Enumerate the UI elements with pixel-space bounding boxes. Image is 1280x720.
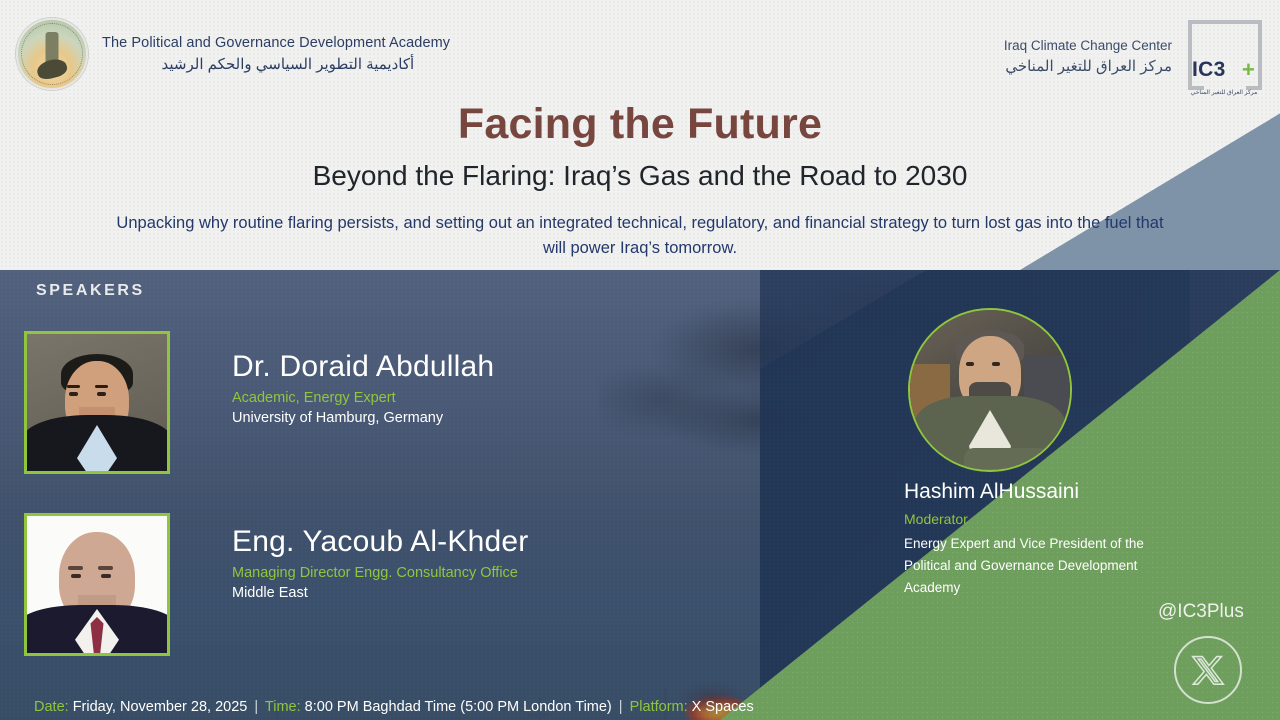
speaker-2-info: Eng. Yacoub Al-Khder Managing Director E…: [232, 525, 852, 601]
footer-details: Date: Friday, November 28, 2025 | Time: …: [34, 699, 754, 715]
date-value: Friday, November 28, 2025: [73, 699, 248, 715]
moderator-description: Energy Expert and Vice President of the …: [904, 533, 1154, 599]
ic3-logo-group: Iraq Climate Change Center مركز العراق ل…: [1004, 16, 1266, 98]
ic3-name-ar: مركز العراق للتغير المناخي: [1004, 56, 1172, 78]
ic3-name-block: Iraq Climate Change Center مركز العراق ل…: [1004, 36, 1172, 77]
speaker-1-role: Academic, Energy Expert: [232, 390, 852, 406]
poster-description: Unpacking why routine flaring persists, …: [110, 211, 1170, 261]
moderator-name: Hashim AlHussaini: [904, 480, 1154, 504]
speaker-2-affiliation: Middle East: [232, 585, 852, 601]
academy-name-ar: أكاديمية التطوير السياسي والحكم الرشيد: [102, 54, 450, 76]
speaker-1-name: Dr. Doraid Abdullah: [232, 350, 852, 384]
poster-title: Facing the Future: [0, 100, 1280, 149]
moderator-photo: [908, 308, 1072, 472]
ic3-mark-plus: +: [1242, 59, 1255, 81]
speakers-section-label: SPEAKERS: [36, 282, 145, 300]
academy-logo-group: The Political and Governance Development…: [16, 18, 450, 90]
footer-separator-2: |: [616, 699, 626, 715]
platform-value: X Spaces: [692, 699, 754, 715]
x-twitter-icon[interactable]: [1174, 636, 1242, 704]
poster-subtitle: Beyond the Flaring: Iraq’s Gas and the R…: [0, 160, 1280, 192]
time-value: 8:00 PM Baghdad Time (5:00 PM London Tim…: [305, 699, 612, 715]
ic3-mark-sub-ar: مركز العراق للتغير المناخي: [1184, 89, 1264, 96]
ic3-mark-word: IC3: [1192, 58, 1226, 82]
time-label: Time:: [265, 699, 301, 715]
academy-name-block: The Political and Governance Development…: [102, 33, 450, 76]
footer-separator-1: |: [251, 699, 261, 715]
moderator-role: Moderator: [904, 511, 1154, 527]
poster-header: The Political and Governance Development…: [0, 0, 1280, 270]
academy-name-en: The Political and Governance Development…: [102, 33, 450, 54]
speaker-2-photo: [24, 513, 170, 656]
speaker-1-photo: [24, 331, 170, 474]
speaker-1-info: Dr. Doraid Abdullah Academic, Energy Exp…: [232, 350, 852, 426]
platform-label: Platform:: [630, 699, 688, 715]
ic3-plus-logo-icon: IC3 + مركز العراق للتغير المناخي: [1184, 16, 1266, 98]
speaker-1-affiliation: University of Hamburg, Germany: [232, 410, 852, 426]
speaker-2-name: Eng. Yacoub Al-Khder: [232, 525, 852, 559]
academy-seal-icon: [16, 18, 88, 90]
social-handle[interactable]: @IC3Plus: [1158, 601, 1244, 623]
moderator-info: Hashim AlHussaini Moderator Energy Exper…: [904, 480, 1154, 599]
event-poster: The Political and Governance Development…: [0, 0, 1280, 720]
ic3-name-en: Iraq Climate Change Center: [1004, 36, 1172, 56]
speaker-2-role: Managing Director Engg. Consultancy Offi…: [232, 565, 852, 581]
date-label: Date:: [34, 699, 69, 715]
